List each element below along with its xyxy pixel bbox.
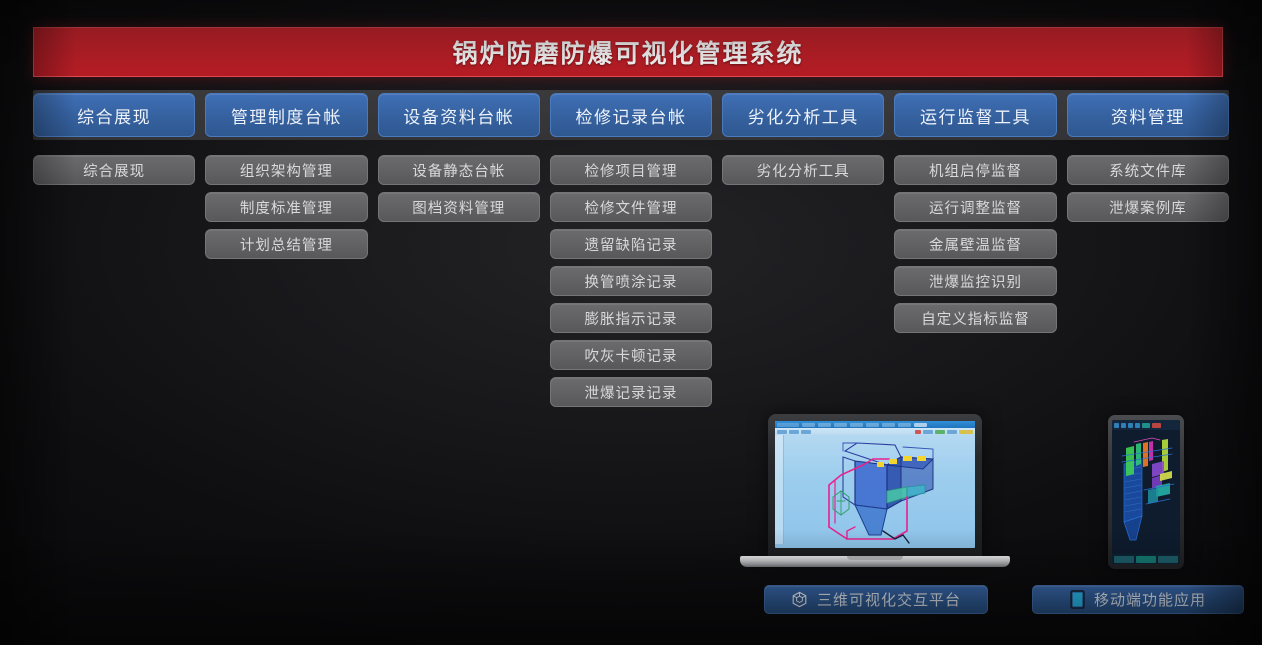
submenu-item-label: 检修项目管理 — [584, 160, 677, 181]
nav-item-data-management[interactable]: 资料管理 — [1067, 93, 1229, 137]
submenu-item-org-structure-management[interactable]: 组织架构管理 — [205, 155, 367, 185]
submenu-column-maintenance-record-ledger: 检修项目管理 检修文件管理 遗留缺陷记录 换管喷涂记录 膨胀指示记录 吹灰卡顿记… — [550, 155, 712, 407]
submenu-column-data-management: 系统文件库 泄爆案例库 — [1067, 155, 1229, 222]
submenu-columns: 综合展现 组织架构管理 制度标准管理 计划总结管理 设备静态台帐 图档资料管理 … — [33, 155, 1229, 407]
screen-app-title — [777, 423, 799, 427]
submenu-item-label: 综合展现 — [83, 160, 145, 181]
toolbar-chip — [947, 430, 957, 434]
submenu-item-label: 吹灰卡顿记录 — [584, 345, 677, 366]
screen-tab — [898, 423, 911, 427]
phone-bottom-button[interactable] — [1158, 556, 1178, 563]
nav-item-label: 管理制度台帐 — [231, 103, 342, 128]
submenu-item-label: 系统文件库 — [1109, 160, 1187, 181]
submenu-item-label: 组织架构管理 — [240, 160, 333, 181]
screen-tab — [850, 423, 863, 427]
submenu-item-label: 机组启停监督 — [929, 160, 1022, 181]
app-root: 锅炉防磨防爆可视化管理系统 综合展现 管理制度台帐 设备资料台帐 检修记录台帐 … — [0, 0, 1262, 645]
laptop-lid — [768, 414, 982, 558]
submenu-item-label: 遗留缺陷记录 — [584, 234, 677, 255]
screen-tab — [834, 423, 847, 427]
laptop-screen — [775, 421, 975, 548]
laptop-notch — [847, 556, 903, 560]
phone-bottom-button[interactable] — [1136, 556, 1156, 563]
submenu-item-label: 自定义指标监督 — [921, 308, 1030, 329]
submenu-column-equipment-data-ledger: 设备静态台帐 图档资料管理 — [378, 155, 540, 222]
submenu-item-label: 泄爆案例库 — [1109, 197, 1187, 218]
screen-tab — [866, 423, 879, 427]
submenu-item-equipment-static-ledger[interactable]: 设备静态台帐 — [378, 155, 540, 185]
phone-screen — [1112, 420, 1180, 564]
submenu-item-explosion-venting-record[interactable]: 泄爆记录记录 — [550, 377, 712, 407]
submenu-item-expansion-indication-record[interactable]: 膨胀指示记录 — [550, 303, 712, 333]
toolbar-chip — [915, 430, 921, 434]
submenu-column-management-system-ledger: 组织架构管理 制度标准管理 计划总结管理 — [205, 155, 367, 259]
submenu-item-system-file-library[interactable]: 系统文件库 — [1067, 155, 1229, 185]
submenu-item-explosion-venting-case-library[interactable]: 泄爆案例库 — [1067, 192, 1229, 222]
toolbar-chip — [801, 430, 811, 434]
mobile-app-preview — [1108, 415, 1184, 569]
nav-item-comprehensive[interactable]: 综合展现 — [33, 93, 195, 137]
phone-toolbar-chip — [1121, 423, 1126, 428]
submenu-item-legacy-defect-record[interactable]: 遗留缺陷记录 — [550, 229, 712, 259]
nav-item-degradation-analysis-tool[interactable]: 劣化分析工具 — [722, 93, 884, 137]
nav-item-label: 检修记录台帐 — [575, 103, 686, 128]
nav-item-label: 资料管理 — [1111, 103, 1185, 128]
submenu-item-label: 金属壁温监督 — [929, 234, 1022, 255]
submenu-item-plan-summary-management[interactable]: 计划总结管理 — [205, 229, 367, 259]
submenu-item-label: 设备静态台帐 — [412, 160, 505, 181]
submenu-item-explosion-venting-monitoring-recognition[interactable]: 泄爆监控识别 — [894, 266, 1056, 296]
submenu-item-label: 图档资料管理 — [412, 197, 505, 218]
submenu-item-comprehensive-display[interactable]: 综合展现 — [33, 155, 195, 185]
submenu-item-label: 膨胀指示记录 — [584, 308, 677, 329]
submenu-item-label: 泄爆监控识别 — [929, 271, 1022, 292]
submenu-item-operation-adjustment-supervision[interactable]: 运行调整监督 — [894, 192, 1056, 222]
nav-item-label: 运行监督工具 — [920, 103, 1031, 128]
toolbar-chip — [923, 430, 933, 434]
nav-item-operation-supervision-tool[interactable]: 运行监督工具 — [894, 93, 1056, 137]
phone-toolbar-chip — [1135, 423, 1140, 428]
nav-item-label: 综合展现 — [77, 103, 151, 128]
app-title-bar: 锅炉防磨防爆可视化管理系统 — [33, 27, 1223, 77]
phone-toolbar-chip — [1152, 423, 1161, 428]
submenu-item-unit-startup-shutdown-supervision[interactable]: 机组启停监督 — [894, 155, 1056, 185]
3d-platform-button-label: 三维可视化交互平台 — [817, 589, 961, 610]
submenu-item-label: 泄爆记录记录 — [584, 382, 677, 403]
nav-item-label: 劣化分析工具 — [748, 103, 859, 128]
nav-item-management-system-ledger[interactable]: 管理制度台帐 — [205, 93, 367, 137]
screen-tab-active — [914, 423, 927, 427]
screen-toolbar — [775, 428, 975, 435]
nav-item-label: 设备资料台帐 — [403, 103, 514, 128]
phone-toolbar — [1112, 420, 1180, 430]
submenu-item-label: 运行调整监督 — [929, 197, 1022, 218]
toolbar-chip — [959, 430, 973, 434]
screen-tab — [818, 423, 831, 427]
phone-toolbar-chip — [1114, 423, 1119, 428]
submenu-item-label: 劣化分析工具 — [757, 160, 850, 181]
submenu-item-standard-system-management[interactable]: 制度标准管理 — [205, 192, 367, 222]
nav-item-equipment-data-ledger[interactable]: 设备资料台帐 — [378, 93, 540, 137]
phone-bottom-bar — [1112, 554, 1180, 564]
toolbar-chip — [935, 430, 945, 434]
submenu-item-tube-replacement-spray-record[interactable]: 换管喷涂记录 — [550, 266, 712, 296]
cube-3d-icon — [791, 591, 808, 608]
submenu-column-degradation-analysis-tool: 劣化分析工具 — [722, 155, 884, 185]
boiler-3d-model-dark — [1112, 430, 1180, 554]
submenu-item-label: 检修文件管理 — [584, 197, 677, 218]
phone-toolbar-chip — [1128, 423, 1133, 428]
submenu-item-metal-wall-temperature-supervision[interactable]: 金属壁温监督 — [894, 229, 1056, 259]
submenu-item-degradation-analysis-tool[interactable]: 劣化分析工具 — [722, 155, 884, 185]
submenu-column-operation-supervision-tool: 机组启停监督 运行调整监督 金属壁温监督 泄爆监控识别 自定义指标监督 — [894, 155, 1056, 333]
submenu-column-comprehensive: 综合展现 — [33, 155, 195, 185]
toolbar-chip — [789, 430, 799, 434]
primary-nav: 综合展现 管理制度台帐 设备资料台帐 检修记录台帐 劣化分析工具 运行监督工具 … — [33, 93, 1229, 137]
mobile-app-button-label: 移动端功能应用 — [1094, 589, 1206, 610]
mobile-phone-icon — [1070, 590, 1085, 609]
submenu-item-maintenance-project-management[interactable]: 检修项目管理 — [550, 155, 712, 185]
submenu-item-label: 制度标准管理 — [240, 197, 333, 218]
submenu-item-label: 计划总结管理 — [240, 234, 333, 255]
boiler-3d-model-light — [783, 435, 975, 548]
submenu-item-custom-index-supervision[interactable]: 自定义指标监督 — [894, 303, 1056, 333]
toolbar-chip — [777, 430, 787, 434]
screen-menu-bar — [775, 421, 975, 428]
laptop-3d-platform-preview — [740, 414, 1010, 574]
submenu-item-label: 换管喷涂记录 — [584, 271, 677, 292]
laptop-base — [740, 556, 1010, 567]
page-title: 锅炉防磨防爆可视化管理系统 — [452, 34, 803, 70]
phone-toolbar-chip — [1142, 423, 1150, 428]
3d-platform-button[interactable]: 三维可视化交互平台 — [764, 585, 988, 614]
mobile-app-button[interactable]: 移动端功能应用 — [1032, 585, 1244, 614]
screen-tab — [802, 423, 815, 427]
screen-tab — [882, 423, 895, 427]
nav-item-maintenance-record-ledger[interactable]: 检修记录台帐 — [550, 93, 712, 137]
phone-bottom-button[interactable] — [1114, 556, 1134, 563]
submenu-item-drawing-archive-management[interactable]: 图档资料管理 — [378, 192, 540, 222]
submenu-item-maintenance-file-management[interactable]: 检修文件管理 — [550, 192, 712, 222]
submenu-item-sootblower-jam-record[interactable]: 吹灰卡顿记录 — [550, 340, 712, 370]
